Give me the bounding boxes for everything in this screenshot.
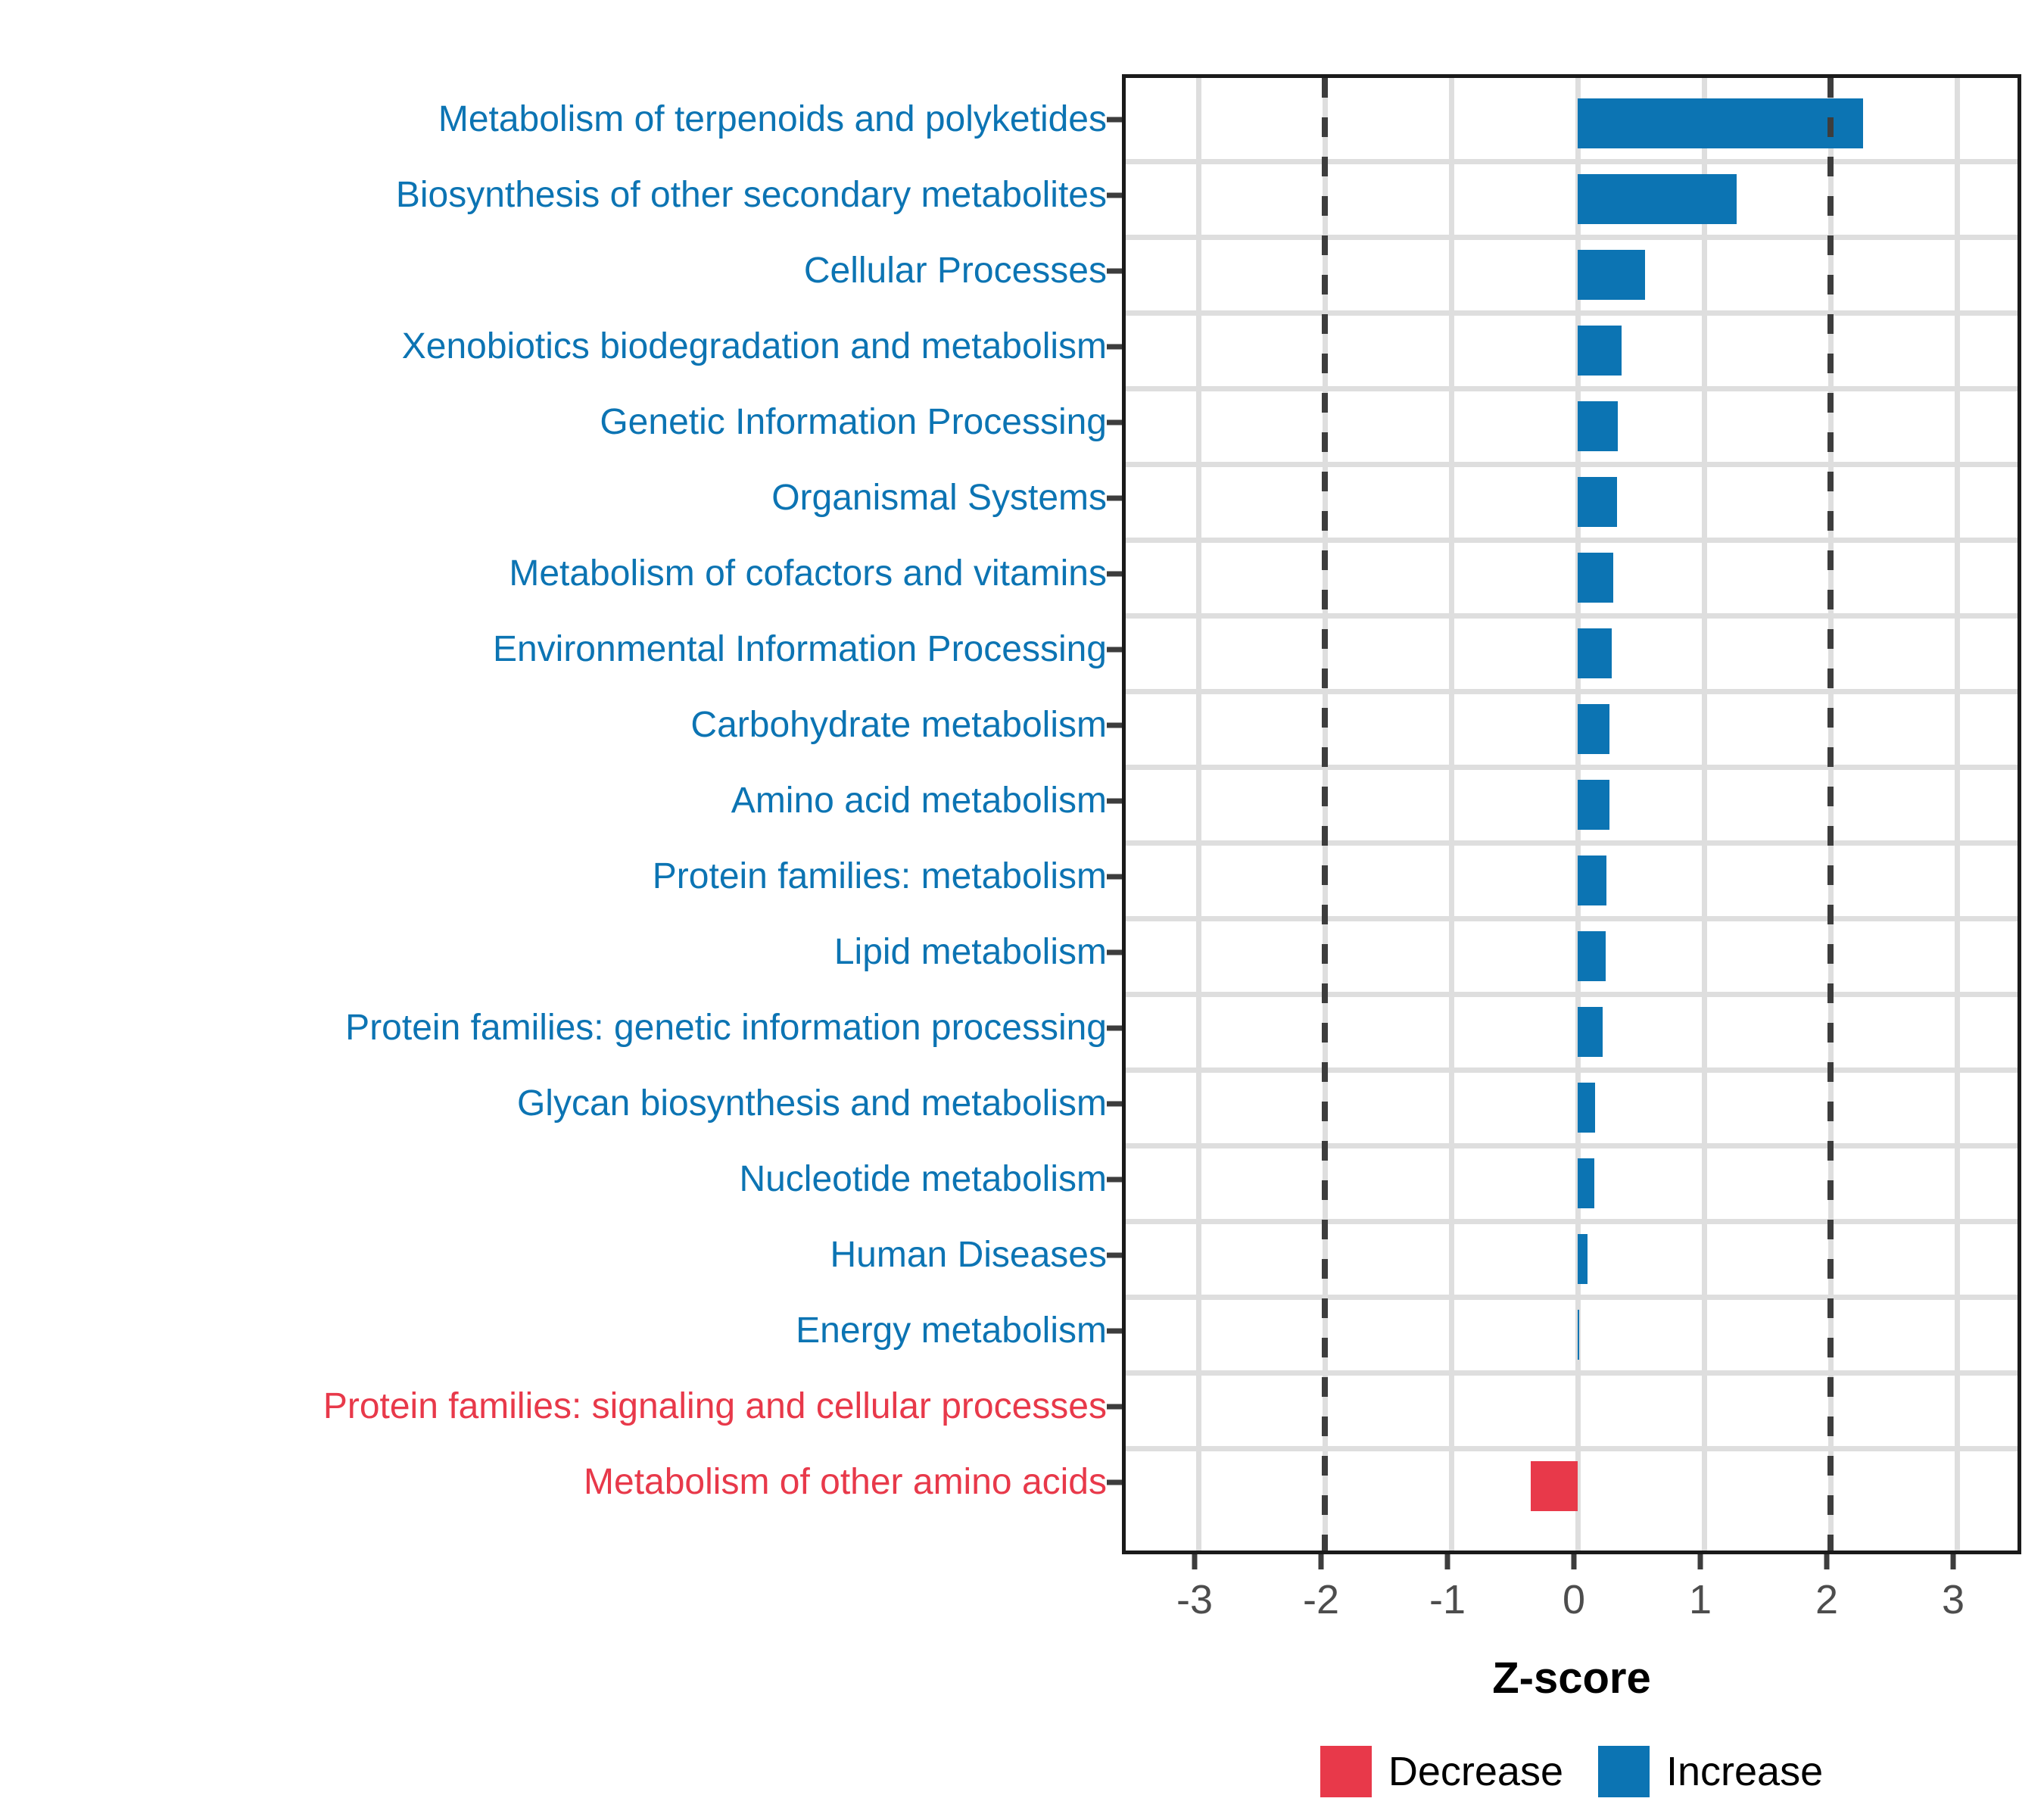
y-axis-tick-mark [1107, 1480, 1122, 1485]
y-axis-tick-label: Genetic Information Processing [600, 404, 1107, 441]
reference-line [1322, 78, 1328, 1551]
x-axis-tick-mark [1192, 1554, 1198, 1569]
y-axis-tick-mark [1107, 344, 1122, 350]
y-axis-tick-mark [1107, 950, 1122, 955]
vertical-gridline [1955, 78, 1960, 1551]
bar [1578, 856, 1606, 905]
y-axis-tick-mark [1107, 1102, 1122, 1107]
horizontal-gridline [1126, 1446, 2018, 1451]
chart-legend: DecreaseIncrease [1122, 1730, 2021, 1813]
y-axis-tick-label: Glycan biosynthesis and metabolism [517, 1086, 1107, 1122]
bar [1578, 1310, 1579, 1360]
bar-chart-figure: Metabolism of terpenoids and polyketides… [0, 0, 2044, 1817]
y-axis-tick-label: Protein families: genetic information pr… [345, 1010, 1107, 1046]
x-axis-tick-label: 3 [1942, 1579, 1965, 1620]
y-axis-tick-mark [1107, 193, 1122, 198]
y-axis-tick-label: Metabolism of cofactors and vitamins [509, 556, 1107, 592]
horizontal-gridline [1126, 613, 2018, 619]
bar [1578, 1234, 1588, 1284]
y-axis-tick-label: Energy metabolism [796, 1313, 1107, 1349]
bar [1578, 553, 1613, 603]
bar [1578, 628, 1612, 678]
y-axis-tick-label: Metabolism of other amino acids [584, 1464, 1107, 1501]
bar [1578, 1158, 1594, 1208]
y-axis-tick-label: Metabolism of terpenoids and polyketides [438, 101, 1107, 138]
horizontal-gridline [1126, 159, 2018, 164]
bar [1578, 1083, 1595, 1133]
reference-line [1827, 78, 1834, 1551]
x-axis-tick-label: 0 [1563, 1579, 1585, 1620]
horizontal-gridline [1126, 689, 2018, 694]
x-axis-tick-mark [1951, 1554, 1956, 1569]
bar [1578, 1007, 1603, 1057]
vertical-gridline [1702, 78, 1707, 1551]
y-axis-tick-mark [1107, 420, 1122, 425]
x-axis-tick-label: -1 [1429, 1579, 1466, 1620]
x-axis-tick-label: -2 [1303, 1579, 1339, 1620]
x-axis-title: Z-score [1492, 1653, 1651, 1703]
y-axis-tick-label: Lipid metabolism [834, 934, 1107, 971]
horizontal-gridline [1126, 765, 2018, 770]
legend-label: Decrease [1388, 1751, 1563, 1792]
x-axis-tick-label: 1 [1689, 1579, 1712, 1620]
y-axis-tick-mark [1107, 723, 1122, 728]
y-axis-tick-mark [1107, 117, 1122, 123]
y-axis-tick-label: Carbohydrate metabolism [690, 707, 1107, 743]
y-axis-tick-label: Protein families: metabolism [653, 859, 1107, 895]
y-axis-tick-label: Nucleotide metabolism [739, 1161, 1107, 1198]
legend-swatch [1598, 1746, 1650, 1797]
y-axis-tick-label: Organismal Systems [771, 480, 1107, 516]
y-axis-tick-label: Xenobiotics biodegradation and metabolis… [402, 329, 1107, 365]
bar [1578, 401, 1618, 451]
horizontal-gridline [1126, 310, 2018, 316]
y-axis-tick-mark [1107, 1404, 1122, 1410]
y-axis-tick-label: Human Diseases [830, 1237, 1107, 1273]
horizontal-gridline [1126, 1067, 2018, 1073]
horizontal-gridline [1126, 1370, 2018, 1376]
y-axis-tick-mark [1107, 572, 1122, 577]
vertical-gridline [1449, 78, 1454, 1551]
y-axis-tick-mark [1107, 1329, 1122, 1334]
x-axis-tick-mark [1445, 1554, 1450, 1569]
y-axis-tick-mark [1107, 1253, 1122, 1258]
y-axis-tick-mark [1107, 1026, 1122, 1031]
horizontal-gridline [1126, 462, 2018, 467]
y-axis-tick-mark [1107, 1177, 1122, 1183]
y-axis-tick-label: Cellular Processes [804, 253, 1107, 289]
bar [1531, 1461, 1578, 1511]
bar [1578, 250, 1645, 300]
bar [1578, 326, 1622, 376]
horizontal-gridline [1126, 1295, 2018, 1300]
legend-item[interactable]: Increase [1598, 1746, 1823, 1797]
legend-label: Increase [1666, 1751, 1823, 1792]
y-axis-tick-label: Protein families: signaling and cellular… [323, 1388, 1107, 1425]
legend-item[interactable]: Decrease [1320, 1746, 1563, 1797]
y-axis-tick-mark [1107, 269, 1122, 274]
bar [1578, 931, 1606, 981]
y-axis-tick-label: Environmental Information Processing [493, 631, 1107, 668]
bar [1578, 477, 1617, 527]
horizontal-gridline [1126, 235, 2018, 240]
horizontal-gridline [1126, 992, 2018, 997]
y-axis-tick-mark [1107, 496, 1122, 501]
legend-swatch [1320, 1746, 1372, 1797]
x-axis-tick-mark [1572, 1554, 1577, 1569]
y-axis-tick-label: Amino acid metabolism [731, 783, 1107, 819]
horizontal-gridline [1126, 538, 2018, 543]
horizontal-gridline [1126, 1219, 2018, 1224]
x-axis-tick-mark [1824, 1554, 1830, 1569]
horizontal-gridline [1126, 1143, 2018, 1148]
horizontal-gridline [1126, 916, 2018, 921]
x-axis-tick-mark [1319, 1554, 1324, 1569]
horizontal-gridline [1126, 386, 2018, 391]
y-axis-tick-mark [1107, 799, 1122, 804]
x-axis-tick-label: -3 [1176, 1579, 1213, 1620]
horizontal-gridline [1126, 840, 2018, 846]
x-axis-tick-mark [1698, 1554, 1703, 1569]
x-axis-tick-label: 2 [1815, 1579, 1838, 1620]
y-axis-tick-mark [1107, 874, 1122, 880]
bar [1578, 780, 1609, 830]
bar [1578, 98, 1863, 148]
vertical-gridline [1196, 78, 1201, 1551]
bar [1578, 174, 1737, 224]
y-axis-tick-label: Biosynthesis of other secondary metaboli… [396, 177, 1107, 213]
y-axis-category-labels: Metabolism of terpenoids and polyketides… [0, 0, 1107, 1590]
bar [1578, 704, 1609, 754]
plot-panel [1122, 74, 2021, 1554]
y-axis-tick-mark [1107, 647, 1122, 653]
